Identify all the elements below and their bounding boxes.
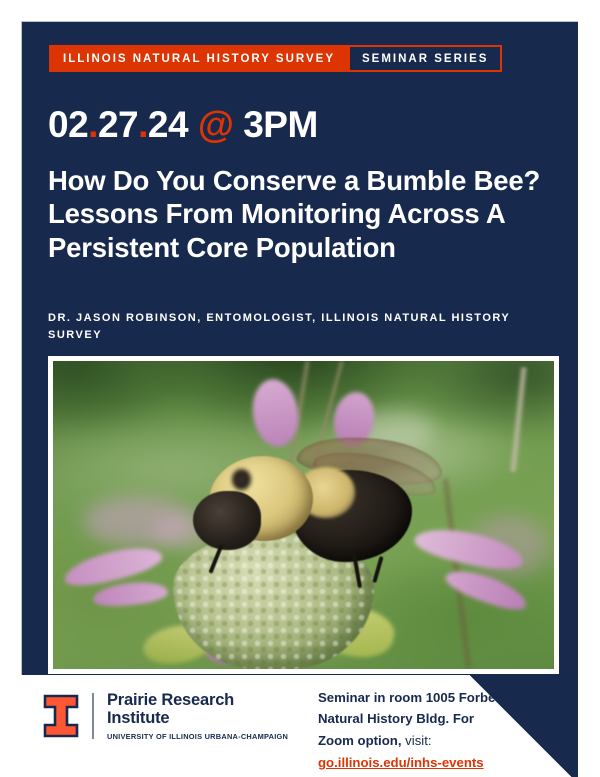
poster-panel: ILLINOIS NATURAL HISTORY SURVEY SEMINAR … xyxy=(21,21,578,777)
bee-leg xyxy=(372,556,383,583)
event-time: 3PM xyxy=(243,104,318,145)
venue-line-1: Seminar in room 1005 Forbes xyxy=(318,687,543,708)
poster-footer: Prairie Research Institute UNIVERSITY OF… xyxy=(21,675,578,777)
date-separator-2: . xyxy=(138,104,148,145)
date-separator-1: . xyxy=(88,104,98,145)
venue-line-2: Natural History Bldg. For xyxy=(318,708,543,729)
header-banner: ILLINOIS NATURAL HISTORY SURVEY SEMINAR … xyxy=(49,45,502,72)
brand-divider xyxy=(92,693,94,739)
visit-label: visit: xyxy=(402,733,432,748)
events-url-link[interactable]: go.illinois.edu/inhs-events xyxy=(318,752,543,773)
bee-head xyxy=(193,491,261,550)
institute-branding: Prairie Research Institute UNIVERSITY OF… xyxy=(43,691,288,741)
speaker-byline: DR. JASON ROBINSON, ENTOMOLOGIST, ILLINO… xyxy=(48,310,538,343)
date-day: 27 xyxy=(98,104,138,145)
banner-secondary-label: SEMINAR SERIES xyxy=(348,45,502,72)
seminar-title: How Do You Conserve a Bumble Bee? Lesson… xyxy=(48,164,548,264)
brand-name-line-2: Institute xyxy=(107,709,288,727)
banner-primary-label: ILLINOIS NATURAL HISTORY SURVEY xyxy=(49,45,348,72)
brand-text-group: Prairie Research Institute UNIVERSITY OF… xyxy=(107,691,288,741)
venue-details: Seminar in room 1005 Forbes Natural Hist… xyxy=(318,687,543,774)
bumble-bee xyxy=(193,435,454,583)
date-year: 24 xyxy=(148,104,188,145)
at-symbol: @ xyxy=(198,104,234,145)
event-dateline: 02.27.24 @ 3PM xyxy=(48,106,318,143)
zoom-option-label: Zoom option, xyxy=(318,733,402,748)
bumble-bee-photo xyxy=(53,361,554,669)
brand-name-line-1: Prairie Research xyxy=(107,691,288,709)
bee-thorax-spot xyxy=(232,469,251,490)
venue-line-3: Zoom option, visit: xyxy=(318,730,543,751)
poster-page: ILLINOIS NATURAL HISTORY SURVEY SEMINAR … xyxy=(0,0,600,777)
bee-leg xyxy=(209,545,224,574)
brand-tagline: UNIVERSITY OF ILLINOIS URBANA-CHAMPAIGN xyxy=(107,732,288,741)
photo-frame xyxy=(48,356,559,674)
date-month: 02 xyxy=(48,104,88,145)
illinois-block-i-logo xyxy=(43,694,79,738)
